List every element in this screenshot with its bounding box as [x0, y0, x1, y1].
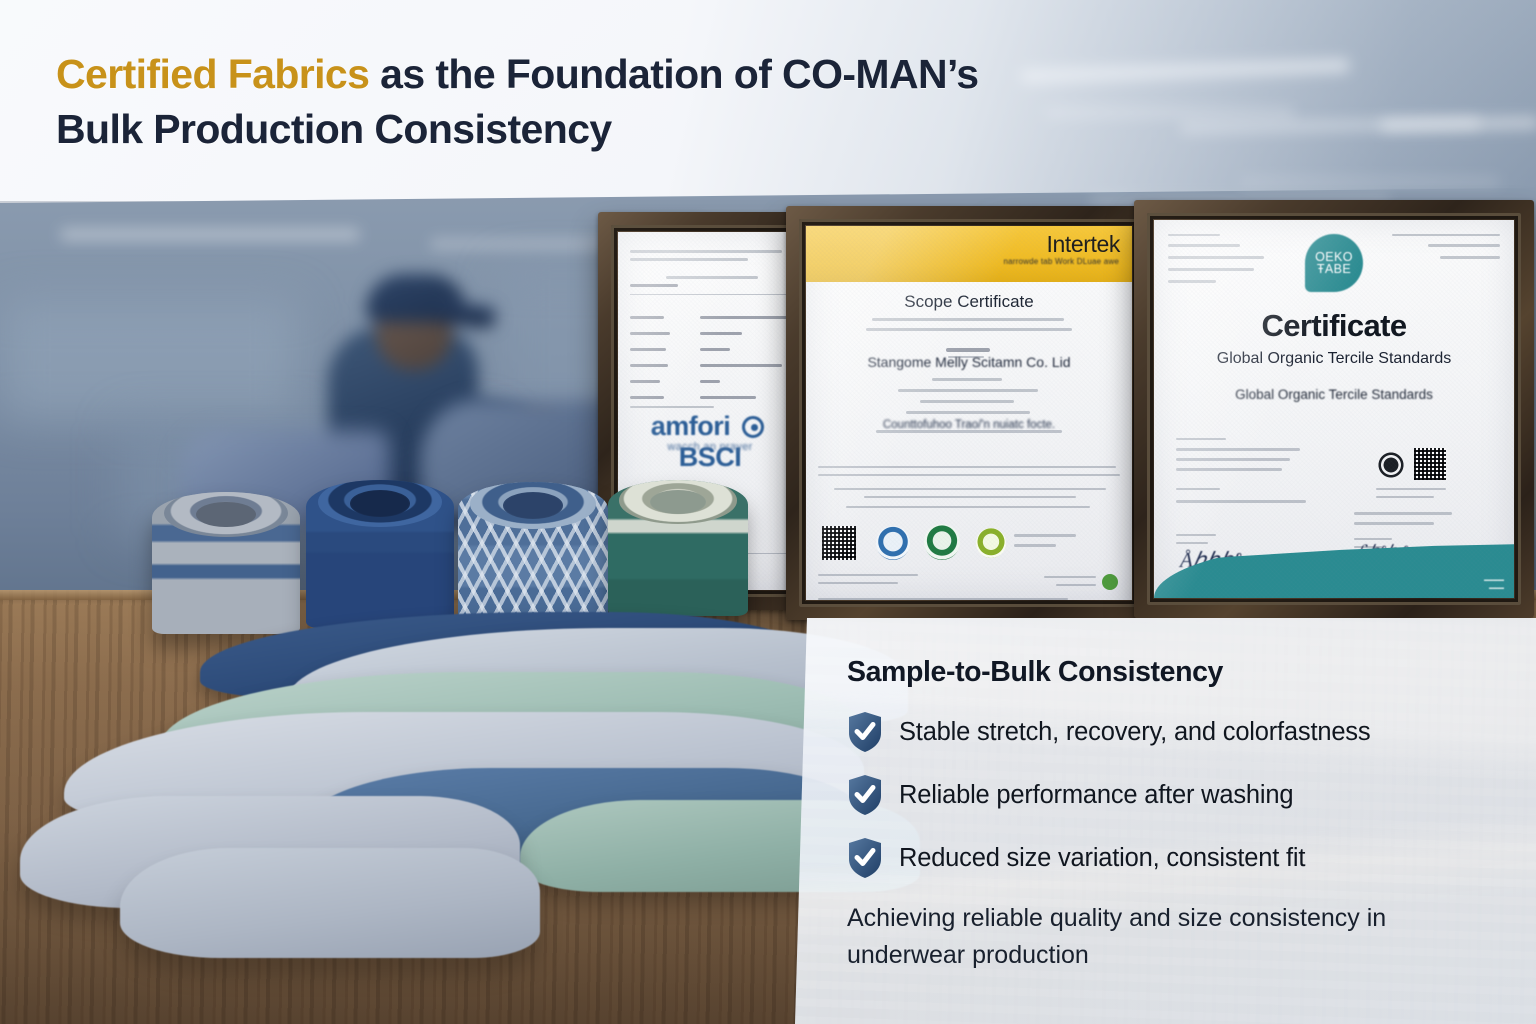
certificate-paper: OEKO ŦABE Certificate Global Organic Ter… — [1154, 220, 1514, 598]
gots-monogram-seal — [1376, 450, 1406, 480]
amfori-wordmark: amfori — [651, 411, 731, 441]
panel-summary-note: Achieving reliable quality and size cons… — [847, 900, 1427, 974]
ceiling-light-streak — [60, 228, 360, 241]
headline-line2: Bulk Production Consistency — [56, 106, 612, 152]
oeko-logo-line1: OEKO — [1315, 251, 1353, 264]
list-item: Stable stretch, recovery, and colorfastn… — [847, 711, 1536, 753]
infographic-canvas: amfori BSCI wacch an prayer Intertek nar… — [0, 0, 1536, 1024]
fold-pale-gray — [120, 848, 540, 958]
intertek-tagline: narrowde tab Work DLuae awe — [1003, 257, 1119, 268]
certificate-title: Certificate — [1154, 308, 1514, 344]
glass-reflection — [1154, 220, 1514, 598]
sample-to-bulk-consistency-panel: Sample-to-Bulk Consistency Stable stretc… — [795, 618, 1536, 1024]
intertek-wordmark: Intertek — [1046, 231, 1120, 258]
certificate-frame-gots-oekotex[interactable]: OEKO ŦABE Certificate Global Organic Ter… — [1134, 200, 1534, 618]
oeko-logo-line2: ŦABE — [1317, 263, 1351, 276]
certificate-paper: Intertek narrowde tab Work DLuae awe Sco… — [806, 226, 1132, 600]
scope-statement: Counttofuhoo Trao/'n nuiatc focte. — [806, 419, 1132, 431]
benefits-list: Stable stretch, recovery, and colorfastn… — [847, 711, 1536, 879]
accreditation-seal-lime — [976, 528, 1006, 558]
at-symbol-icon — [742, 416, 764, 438]
scope-certificate-title: Scope Certificate — [806, 292, 1132, 312]
oeko-tex-logo: OEKO ŦABE — [1305, 234, 1363, 292]
shield-check-icon — [847, 711, 883, 753]
bg-blur-blob — [0, 300, 300, 420]
panel-title: Sample-to-Bulk Consistency — [847, 656, 1536, 689]
list-item-label: Stable stretch, recovery, and colorfastn… — [899, 718, 1370, 747]
signature-left: Åℎℎℎℓ — [1180, 548, 1242, 573]
headline-accent-text: Certified Fabrics — [56, 51, 369, 97]
certified-company-name: Stangome Melly Scitamn Co. Lid — [806, 354, 1132, 370]
roll-core-hole — [503, 492, 563, 519]
fabric-roll-patterned-blue — [458, 482, 608, 630]
accreditation-seal-blue — [876, 526, 910, 560]
roll-core-hole — [196, 502, 255, 528]
footer-microtext: ▬▬▬▬▬▬▬ — [1484, 577, 1504, 592]
bsci-wordmark: BSCI — [679, 442, 742, 472]
fabric-roll-solid-navy — [306, 480, 454, 628]
fabric-roll-teal-green — [608, 480, 748, 616]
oeko-tex-footer-wave: ▬▬▬▬▬▬▬ — [1154, 542, 1514, 598]
glass-reflection — [806, 226, 1132, 600]
footer-badge-green — [1102, 574, 1118, 590]
list-item-label: Reduced size variation, consistent fit — [899, 844, 1305, 873]
qr-code — [822, 526, 856, 560]
shield-check-icon — [847, 837, 883, 879]
amfori-tagline: wacch an prayer — [618, 441, 802, 453]
amfori-bsci-logo: amfori BSCI — [618, 411, 802, 473]
signature-right: ℒℎℓℎ.ℓ — [1356, 542, 1408, 562]
qr-code — [1414, 448, 1446, 480]
list-item: Reduced size variation, consistent fit — [847, 837, 1536, 879]
certificate-frame-intertek-scope[interactable]: Intertek narrowde tab Work DLuae awe Sco… — [786, 206, 1152, 620]
fabric-roll-blue-gray-striped — [152, 492, 300, 634]
intertek-yellow-banner: Intertek narrowde tab Work DLuae awe — [806, 226, 1132, 282]
roll-core-hole — [350, 490, 409, 517]
page-title: Certified Fabrics as the Foundation of C… — [56, 47, 1316, 156]
roll-core-hole — [650, 490, 706, 514]
headline-rest-line1: as the Foundation of CO-MAN’s — [369, 51, 978, 97]
accreditation-seal-green — [924, 524, 960, 560]
shield-check-icon — [847, 774, 883, 816]
certificate-standard-secondary: Global Organic Tercile Standards — [1154, 387, 1514, 402]
list-item-label: Reliable performance after washing — [899, 781, 1293, 810]
list-item: Reliable performance after washing — [847, 774, 1536, 816]
certificate-standard-primary: Global Organic Tercile Standards — [1154, 350, 1514, 368]
